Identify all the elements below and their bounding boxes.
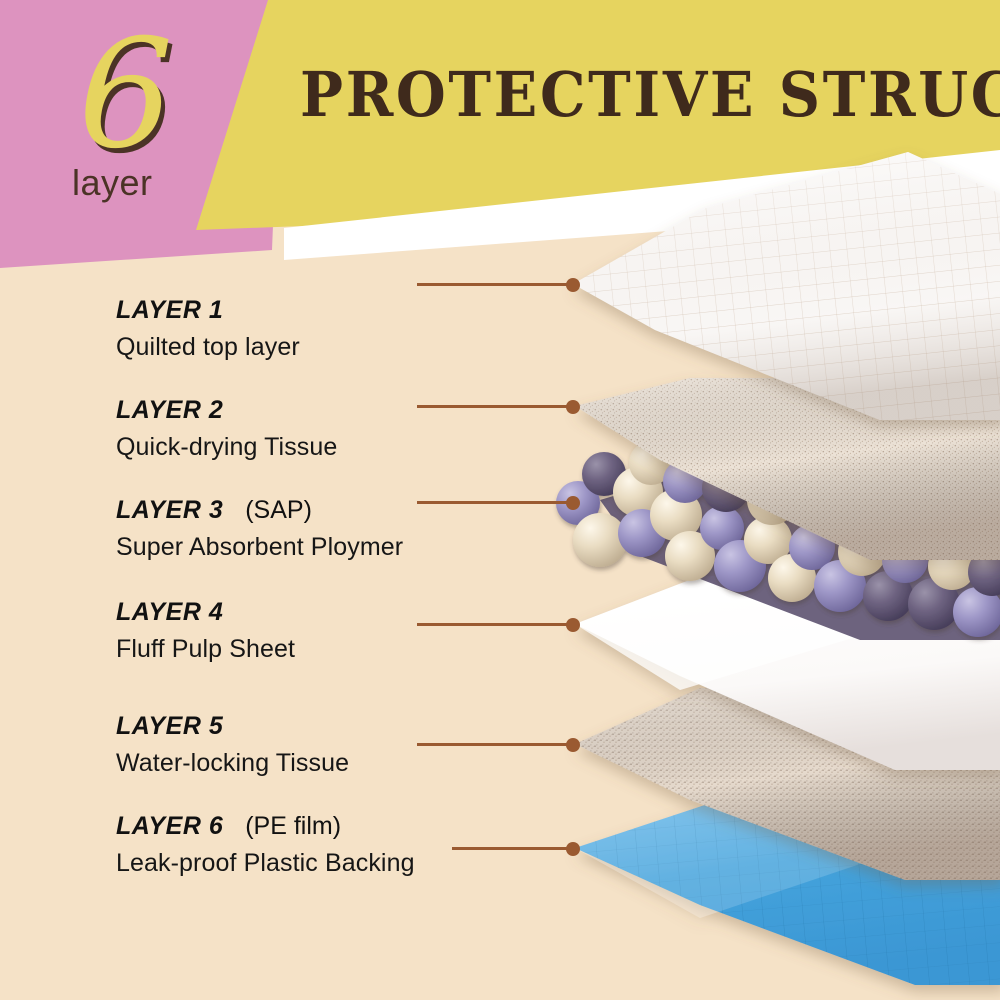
illustration-layer-2-quick-drying-tissue (575, 378, 1000, 560)
infographic-poster: 6 layer PROTECTIVE STRUCTURE (0, 0, 1000, 1000)
leader-dot (566, 278, 580, 292)
illustration-layer-3-sap-beads (556, 436, 1000, 640)
label-layer-5-description: Water-locking Tissue (116, 749, 476, 778)
label-layer-1-description: Quilted top layer (116, 333, 476, 362)
label-layer-2-description: Quick-drying Tissue (116, 433, 476, 462)
layer-count-unit: layer (72, 162, 153, 204)
leader-dot (566, 618, 580, 632)
label-layer-4-title: LAYER 4 (116, 598, 476, 627)
layer-count-number: 6 (78, 20, 171, 170)
label-layer-3-paren: (SAP) (245, 496, 312, 524)
label-layer-5-title: LAYER 5 (116, 712, 476, 741)
label-layer-6-title: LAYER 6(PE film) (116, 812, 476, 841)
leader-dot (566, 496, 580, 510)
leader-dot (566, 842, 580, 856)
leader-line-layer-1 (417, 283, 573, 286)
illustration-layer-4-fluff-pulp-sheet (575, 576, 1000, 770)
label-layer-3: LAYER 3(SAP) Super Absorbent Ploymer (116, 496, 476, 562)
label-layer-5: LAYER 5 Water-locking Tissue (116, 712, 476, 778)
label-layer-4-description: Fluff Pulp Sheet (116, 635, 476, 664)
label-layer-2-title: LAYER 2 (116, 396, 476, 425)
label-layer-4: LAYER 4 Fluff Pulp Sheet (116, 598, 476, 664)
label-layer-2: LAYER 2 Quick-drying Tissue (116, 396, 476, 462)
leader-dot (566, 400, 580, 414)
illustration-layer-5-water-locking-tissue (575, 688, 1000, 880)
page-title: PROTECTIVE STRUCTURE (300, 58, 1000, 131)
label-layer-1-title: LAYER 1 (116, 296, 476, 325)
label-layer-6: LAYER 6(PE film) Leak-proof Plastic Back… (116, 812, 476, 878)
leader-dot (566, 738, 580, 752)
label-layer-3-description: Super Absorbent Ploymer (116, 533, 476, 562)
label-layer-1: LAYER 1 Quilted top layer (116, 296, 476, 362)
illustration-layer-6-pe-film (575, 800, 1000, 985)
label-layer-6-description: Leak-proof Plastic Backing (116, 849, 476, 878)
label-layer-6-paren: (PE film) (245, 812, 341, 840)
label-layer-3-title: LAYER 3(SAP) (116, 496, 476, 525)
